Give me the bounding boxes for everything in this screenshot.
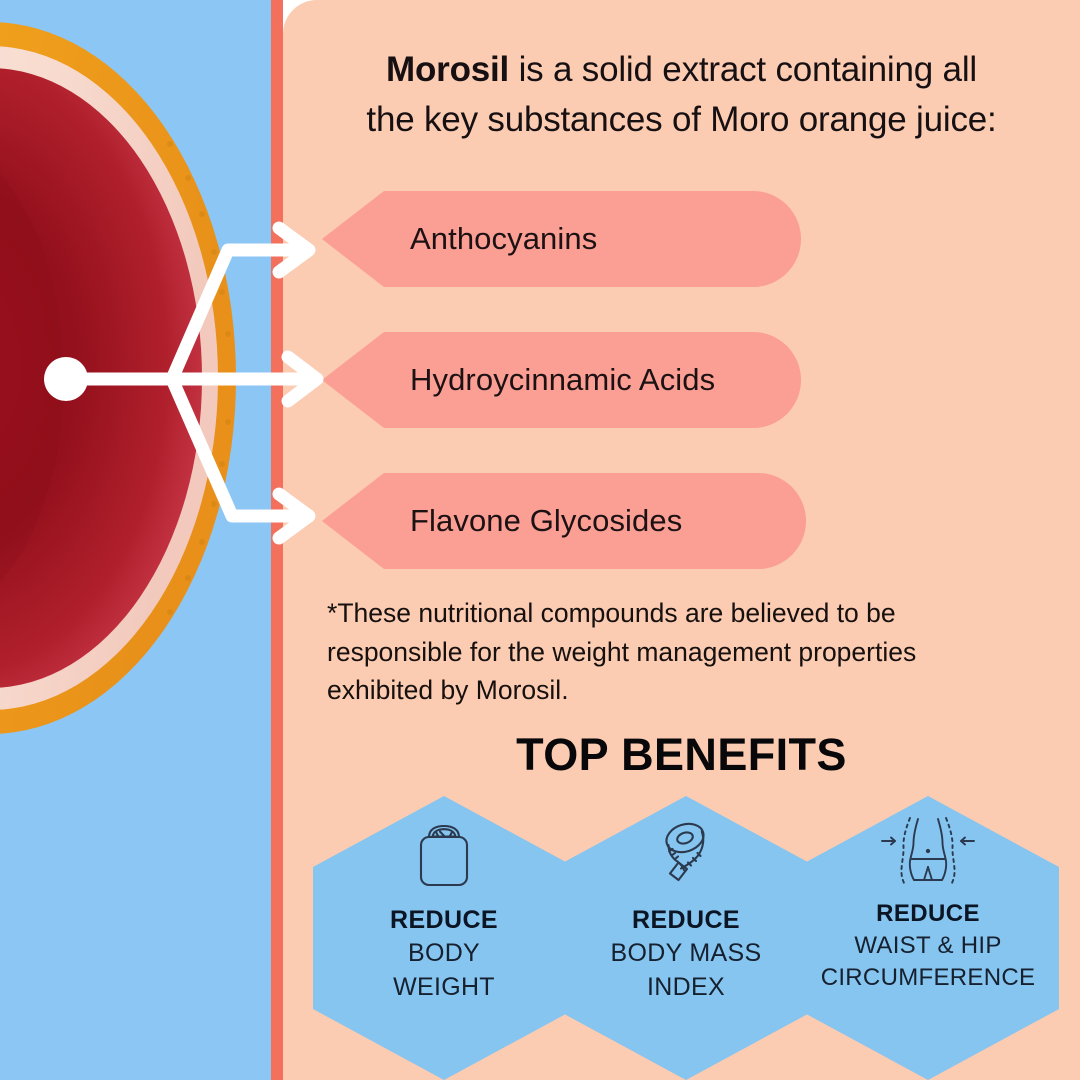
headline-line1-rest: is a solid extract containing all	[509, 50, 977, 89]
list-item[interactable]: Anthocyanins	[322, 189, 803, 289]
blood-orange-slice-photo	[0, 22, 236, 734]
footnote-text: *These nutritional compounds are believe…	[327, 594, 1007, 710]
benefit-line1: REDUCE	[797, 898, 1059, 930]
right-content-panel: Morosil is a solid extract containing al…	[283, 0, 1080, 1080]
benefit-card-waist-hip[interactable]: REDUCE WAIST & HIP CIRCUMFERENCE	[797, 796, 1059, 1080]
bathroom-scale-icon	[313, 818, 575, 894]
measuring-tape-icon	[555, 818, 817, 894]
benefit-line2: WAIST & HIP CIRCUMFERENCE	[797, 930, 1059, 995]
benefit-card-body-mass-index[interactable]: REDUCE BODY MASS INDEX	[555, 796, 817, 1080]
benefit-line2: BODY WEIGHT	[313, 937, 575, 1005]
list-item[interactable]: Flavone Glycosides	[322, 471, 808, 571]
benefits-hexagon-row: REDUCE BODY WEIGHT	[295, 796, 1080, 1080]
benefit-line2: BODY MASS INDEX	[555, 937, 817, 1005]
benefits-heading: TOP BENEFITS	[283, 729, 1080, 781]
benefit-line1: REDUCE	[313, 904, 575, 937]
brand-name: Morosil	[386, 50, 509, 89]
benefit-card-body-weight[interactable]: REDUCE BODY WEIGHT	[313, 796, 575, 1080]
pill-label: Hydroycinnamic Acids	[410, 330, 715, 430]
page-title: Morosil is a solid extract containing al…	[303, 45, 1060, 146]
list-item[interactable]: Hydroycinnamic Acids	[322, 330, 803, 430]
pill-label: Flavone Glycosides	[410, 471, 682, 571]
left-blue-panel	[0, 0, 276, 1080]
substance-pill-list: Anthocyanins Hydroycinnamic Acids Flavon…	[322, 189, 1062, 571]
headline-line2: the key substances of Moro orange juice:	[366, 100, 996, 139]
waist-silhouette-icon	[797, 812, 1059, 888]
vertical-divider-line	[271, 0, 283, 1080]
benefit-line1: REDUCE	[555, 904, 817, 937]
infographic-canvas: Morosil is a solid extract containing al…	[0, 0, 1080, 1080]
pill-label: Anthocyanins	[410, 189, 597, 289]
